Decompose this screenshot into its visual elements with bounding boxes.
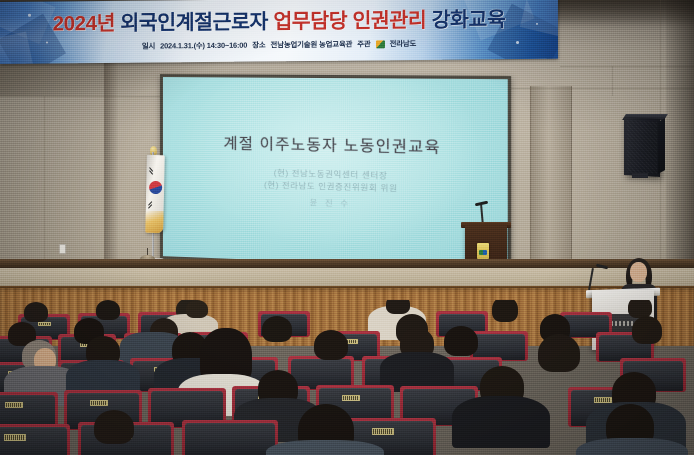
audience-seating	[0, 300, 694, 455]
seat-number-plate	[342, 395, 360, 401]
podium-emblem	[477, 243, 489, 259]
seat-number-plate	[38, 322, 51, 326]
audience-person	[262, 316, 292, 342]
jeollanamdo-logo-icon	[376, 40, 385, 48]
wall-speaker	[624, 117, 660, 177]
light-switch[interactable]	[59, 244, 66, 254]
slide-subtitle: (현) 전남노동권익센터 센터장 (현) 전라남도 인권증진위원회 위원	[264, 167, 398, 194]
right-corner-shadow	[666, 0, 694, 300]
audience-person	[94, 410, 134, 444]
slide-title: 계절 이주노동자 노동인권교육	[223, 132, 440, 158]
side-door-frame	[530, 86, 572, 261]
seat-number-plate	[372, 428, 394, 435]
banner-title-seg-3: 인권관리	[352, 9, 426, 33]
banner-host-value: 전라남도	[390, 38, 417, 49]
flag-gold-fringe	[145, 211, 163, 233]
slide-subtitle-line2: (현) 전라남도 인권증진위원회 위원	[264, 179, 398, 194]
audience-person	[452, 396, 550, 448]
seat[interactable]	[185, 423, 275, 455]
seat[interactable]	[0, 427, 67, 455]
projection-screen-frame: 계절 이주노동자 노동인권교육 (현) 전남노동권익센터 센터장 (현) 전라남…	[160, 74, 511, 274]
audience-person	[386, 300, 410, 314]
audience-person	[538, 334, 580, 372]
wall-seam	[0, 96, 160, 97]
projection-screen: 계절 이주노동자 노동인권교육 (현) 전남노동권익센터 센터장 (현) 전라남…	[163, 77, 508, 270]
banner-place-label: 장소	[252, 39, 265, 50]
wall-speaker-bracket	[632, 173, 648, 178]
audience-person	[314, 330, 348, 360]
wall-seam	[492, 88, 694, 89]
audience-person	[266, 440, 384, 455]
banner-date-label: 일시	[142, 40, 155, 51]
banner-date-value: 2024.1.31.(수) 14:30~16:00	[160, 39, 247, 51]
wall-speaker-side	[658, 118, 665, 174]
audience-person	[24, 302, 48, 322]
wall-seam-vertical	[44, 96, 45, 264]
audience-person	[186, 300, 208, 318]
banner-place-value: 전남농업기술원 농업교육관	[271, 38, 353, 50]
slide-presenter-name: 윤 진 수	[310, 197, 351, 210]
presenter-head	[630, 262, 647, 282]
audience-person	[632, 316, 662, 344]
korean-flag-icon	[145, 155, 165, 233]
banner-title: 2024년 외국인계절근로자 업무담당 인권관리 강화교육	[53, 10, 506, 35]
auditorium-photo: 2024년 외국인계절근로자 업무담당 인권관리 강화교육 일시 2024.1.…	[0, 0, 694, 455]
stage-edge	[0, 259, 694, 268]
banner-title-seg-0: 2024년	[53, 12, 115, 36]
speaker-grill-icon	[627, 120, 657, 174]
banner-host-label: 주관	[357, 38, 370, 49]
wall-seam-vertical	[612, 66, 613, 96]
seat-number-plate	[5, 402, 23, 408]
banner-title-seg-2: 업무담당	[273, 10, 347, 34]
audience-person	[444, 326, 478, 356]
banner-subtitle: 일시 2024.1.31.(수) 14:30~16:00 장소 전남농업기술원 …	[142, 38, 416, 52]
banner-title-seg-1: 외국인계절근로자	[120, 11, 268, 35]
banner-title-seg-4: 강화교육	[432, 8, 506, 32]
event-banner: 2024년 외국인계절근로자 업무담당 인권관리 강화교육 일시 2024.1.…	[0, 0, 558, 64]
seat-number-plate	[594, 397, 612, 403]
audience-person	[492, 300, 518, 322]
audience-person	[96, 300, 120, 320]
seat-number-plate	[4, 434, 26, 441]
left-wall-shadow	[104, 60, 118, 265]
audience-person	[576, 438, 688, 455]
seat-number-plate	[90, 400, 108, 406]
taeguk-symbol	[149, 181, 162, 194]
